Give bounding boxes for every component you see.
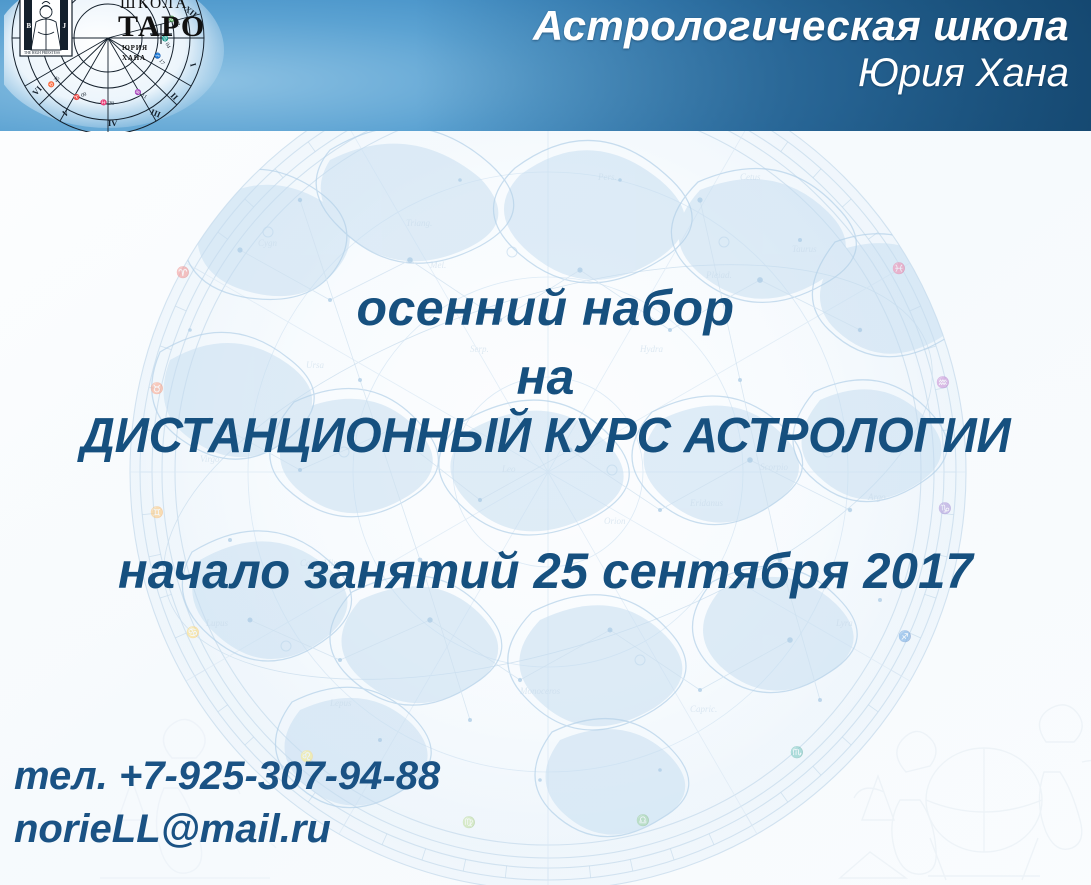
svg-text:J: J — [63, 22, 67, 30]
headline-start-date: начало занятий 25 сентября 2017 — [11, 542, 1080, 600]
contact-email[interactable]: norieLL@mail.ru — [14, 807, 331, 852]
poster: Triang. Pers. Cetus Cygn Mel. Hydra Taur… — [0, 0, 1091, 885]
svg-text:B: B — [27, 22, 32, 30]
header-title: Астрологическая школа Юрия Хана — [533, 4, 1069, 94]
header-title-line1: Астрологическая школа — [533, 4, 1069, 48]
headline-course-title: ДИСТАНЦИОННЫЙ КУРС АСТРОЛОГИИ — [16, 408, 1074, 464]
headline-autumn-intake: осенний набор — [0, 279, 1091, 337]
logo-taro-word: ТАРО — [118, 10, 206, 43]
svg-text:♓ 28: ♓ 28 — [100, 99, 114, 107]
contact-phone[interactable]: тел. +7-925-307-94-88 — [14, 754, 440, 799]
svg-text:IV: IV — [108, 118, 118, 128]
headline-preposition: на — [0, 348, 1091, 406]
logo-owner-line1: ЮРИЯ — [122, 44, 148, 52]
header-title-line2: Юрия Хана — [533, 52, 1069, 94]
svg-text:THE HIGH PRIESTESS: THE HIGH PRIESTESS — [24, 51, 60, 55]
school-logo[interactable]: XII I II III IV V VI ♐ 17 ♏ 04 ♎ 22 ♒ 11… — [4, 0, 226, 132]
logo-owner-line2: ХАНА — [122, 54, 146, 62]
